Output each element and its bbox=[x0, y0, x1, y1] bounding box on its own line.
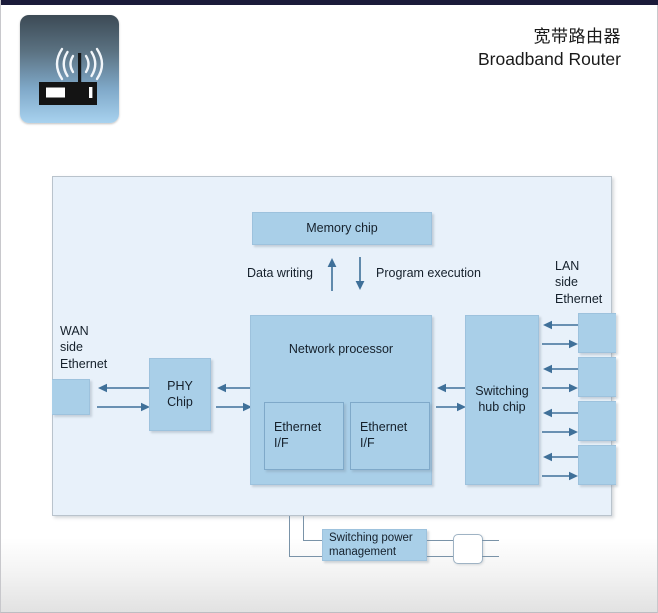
lan-port-4-arrows bbox=[542, 449, 579, 483]
data-writing-label: Data writing bbox=[247, 265, 313, 281]
program-execution-arrow-down bbox=[353, 257, 367, 291]
power-wire-vertical-outer bbox=[289, 516, 290, 556]
power-wire-vertical-inner bbox=[303, 516, 304, 540]
router-block-diagram-panel: Memory chip Data writing Program executi… bbox=[52, 176, 612, 516]
power-connector-stub-top bbox=[482, 540, 499, 541]
power-out-wire-bottom bbox=[427, 556, 453, 557]
lan-side-ethernet-label: LAN side Ethernet bbox=[555, 258, 602, 307]
lan-port-2-arrows bbox=[542, 361, 579, 395]
processor-to-hub-arrows bbox=[436, 380, 467, 414]
lan-port-2 bbox=[578, 357, 616, 397]
page-title: 宽带路由器 Broadband Router bbox=[478, 26, 621, 70]
power-out-wire-top bbox=[427, 540, 453, 541]
program-execution-label: Program execution bbox=[376, 265, 481, 281]
power-connector-stub-bottom bbox=[482, 556, 499, 557]
memory-chip-block: Memory chip bbox=[252, 212, 432, 245]
power-connector bbox=[453, 534, 483, 564]
switching-hub-chip-block: Switching hub chip bbox=[465, 315, 539, 485]
switching-power-management-block: Switching power management bbox=[322, 529, 427, 561]
lan-port-4 bbox=[578, 445, 616, 485]
power-wire-horizontal-outer bbox=[289, 556, 325, 557]
network-processor-label: Network processor bbox=[289, 342, 393, 358]
title-english: Broadband Router bbox=[478, 48, 621, 70]
phy-chip-block: PHY Chip bbox=[149, 358, 211, 431]
data-writing-arrow-up bbox=[325, 257, 339, 291]
page-canvas: 宽带路由器 Broadband Router Memory chip Data … bbox=[0, 0, 658, 613]
lan-port-3-arrows bbox=[542, 405, 579, 439]
ethernet-if-block-1: Ethernet I/F bbox=[264, 402, 344, 470]
lan-port-1 bbox=[578, 313, 616, 353]
wan-side-ethernet-label: WAN side Ethernet bbox=[60, 323, 107, 372]
lan-port-1-arrows bbox=[542, 317, 579, 351]
broadband-router-icon bbox=[20, 15, 119, 123]
ethernet-if-block-2: Ethernet I/F bbox=[350, 402, 430, 470]
wan-to-phy-arrows bbox=[97, 380, 151, 414]
top-accent-bar bbox=[1, 0, 658, 5]
lan-port-3 bbox=[578, 401, 616, 441]
phy-to-processor-arrows bbox=[216, 380, 253, 414]
title-chinese: 宽带路由器 bbox=[478, 26, 621, 48]
wan-port bbox=[52, 379, 90, 415]
